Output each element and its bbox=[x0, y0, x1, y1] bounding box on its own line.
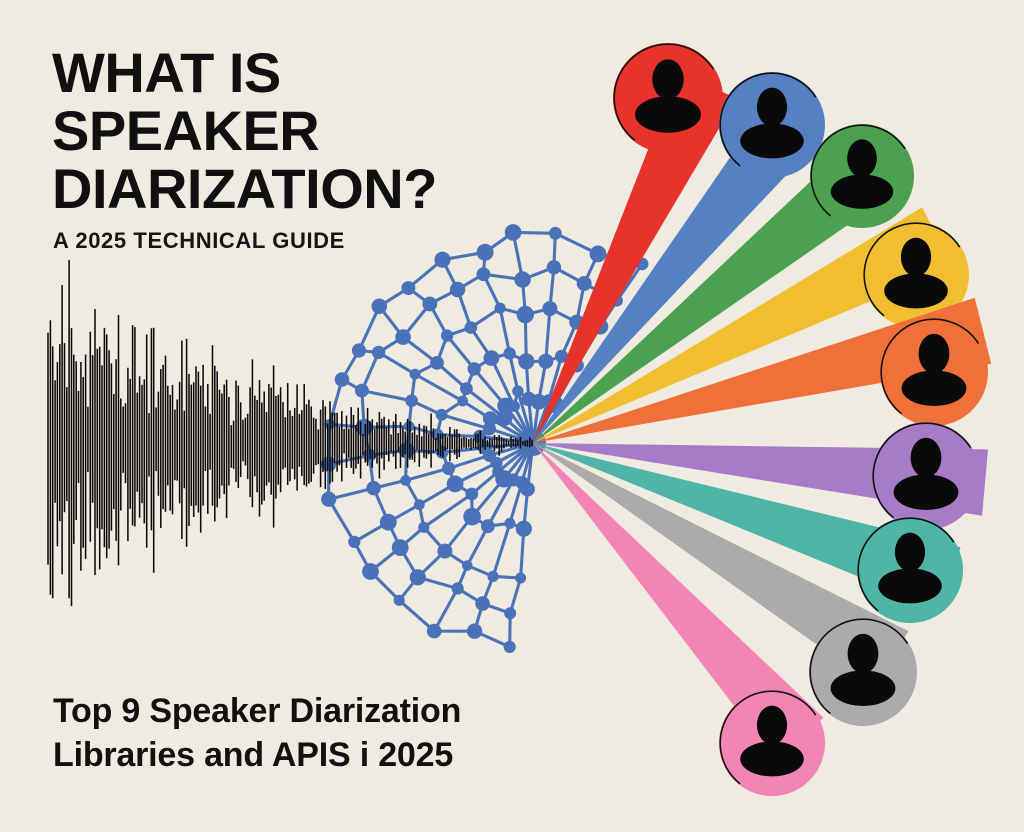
person-avatar-icon-body bbox=[894, 474, 959, 510]
person-avatar-icon-head bbox=[911, 438, 942, 478]
person-avatar-icon-body bbox=[878, 568, 942, 603]
person-avatar-icon-head bbox=[757, 88, 787, 127]
person-avatar-icon-head bbox=[895, 533, 925, 572]
person-avatar-icon-head bbox=[919, 334, 950, 374]
person-avatar-icon-body bbox=[831, 670, 896, 706]
person-avatar-icon-head bbox=[757, 706, 787, 745]
person-avatar-icon-body bbox=[831, 174, 893, 208]
person-avatar-icon-head bbox=[901, 238, 931, 277]
person-avatar-icon-body bbox=[740, 741, 804, 776]
person-avatar-icon-head bbox=[847, 139, 877, 177]
person-avatar-icon-head bbox=[848, 634, 879, 674]
person-avatar-icon-body bbox=[635, 96, 701, 132]
person-avatar-icon-head bbox=[652, 59, 683, 99]
poster-artwork bbox=[0, 0, 1024, 832]
person-avatar-icon-body bbox=[902, 370, 967, 406]
infographic-poster: WHAT IS SPEAKER DIARIZATION? A 2025 TECH… bbox=[0, 0, 1024, 832]
person-avatar-icon-body bbox=[740, 123, 804, 158]
person-avatar-icon-body bbox=[884, 273, 948, 308]
